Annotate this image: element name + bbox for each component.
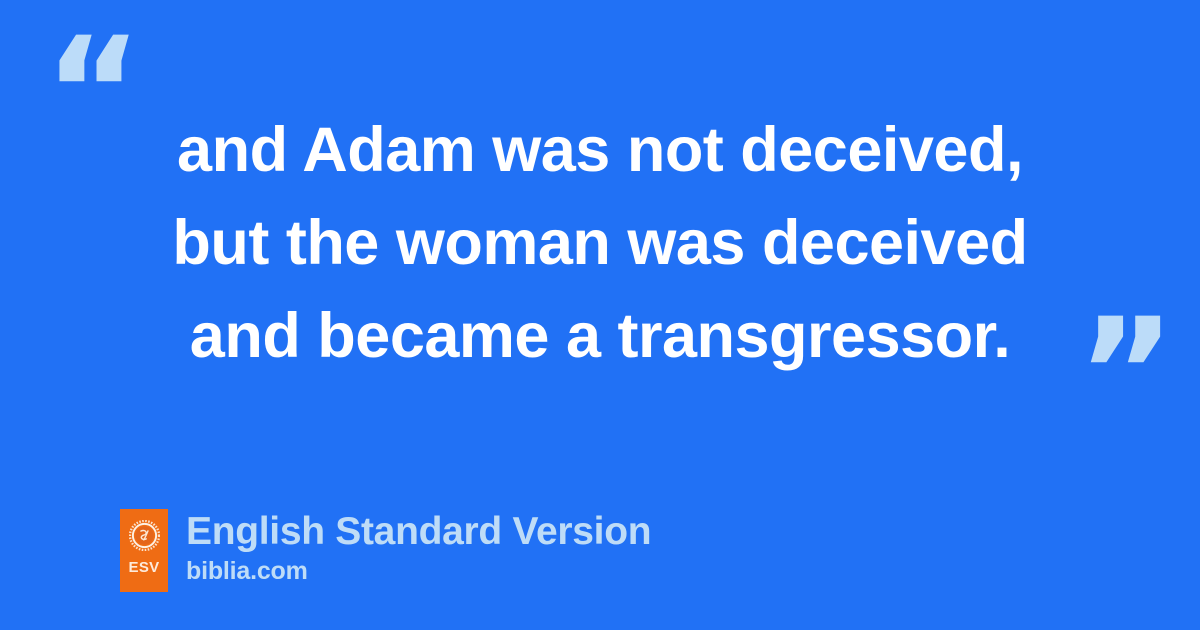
quote-line: and became a transgressor. [0,290,1200,383]
attribution-text: English Standard Version biblia.com [186,509,651,585]
quote-text: and Adam was not deceived, but the woman… [0,104,1200,383]
closing-quote-icon: ” [1077,299,1174,449]
bible-verse-card: “ and Adam was not deceived, but the wom… [0,0,1200,630]
esv-badge-label: ESV [129,560,160,575]
quote-line: and Adam was not deceived, [0,104,1200,197]
quote-line: but the woman was deceived [0,197,1200,290]
esv-seal-icon [129,520,160,551]
esv-logo-badge: ESV [120,509,168,592]
bible-version-name: English Standard Version [186,510,651,554]
attribution: ESV English Standard Version biblia.com [120,509,651,592]
site-url: biblia.com [186,557,651,585]
